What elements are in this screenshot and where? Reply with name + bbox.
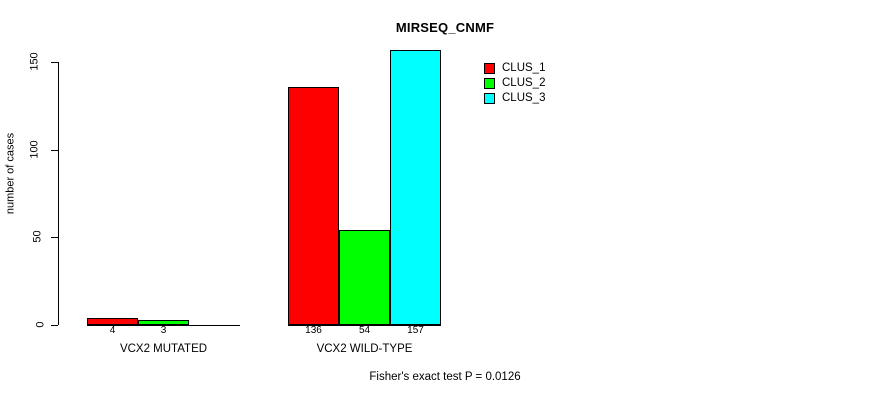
- bar-value-label: 3: [138, 326, 189, 336]
- bar-value-label: 54: [339, 326, 390, 336]
- legend-color-swatch: [484, 93, 495, 104]
- y-axis-tick-label: 150: [0, 56, 44, 67]
- statistical-test-annotation: Fisher's exact test P = 0.0126: [0, 371, 890, 384]
- y-axis-title: number of cases: [6, 119, 17, 229]
- y-axis-tick-mark: [51, 62, 58, 63]
- bar-value-label: 157: [390, 326, 441, 336]
- y-axis-tick-label: 0: [0, 319, 44, 330]
- legend-item-label: CLUS_2: [502, 77, 545, 89]
- legend-color-swatch: [484, 63, 495, 74]
- y-axis-tick-label-text: 100: [29, 140, 40, 158]
- y-axis-tick-label-text: 0: [35, 321, 46, 327]
- legend-item-label: CLUS_3: [502, 92, 545, 104]
- y-axis-tick-label-text: 150: [29, 52, 40, 70]
- chart-title: MIRSEQ_CNMF: [0, 20, 890, 35]
- y-axis-line: [58, 62, 59, 325]
- bar-value-label: 136: [288, 326, 339, 336]
- y-axis-tick-mark: [51, 150, 58, 151]
- y-axis-tick-label: 50: [0, 231, 44, 242]
- group-label: VCX2 WILD-TYPE: [288, 343, 441, 355]
- y-axis-tick-mark: [51, 237, 58, 238]
- legend-color-swatch: [484, 78, 495, 89]
- chart-canvas: MIRSEQ_CNMF 050100150 number of cases 43…: [0, 0, 890, 400]
- legend-item-label: CLUS_1: [502, 62, 545, 74]
- group-label: VCX2 MUTATED: [87, 343, 240, 355]
- y-axis-tick-label-text: 50: [32, 231, 43, 243]
- bar[interactable]: [87, 318, 138, 325]
- bar[interactable]: [390, 50, 441, 325]
- y-axis-tick-mark: [51, 325, 58, 326]
- bar[interactable]: [288, 87, 339, 325]
- bar[interactable]: [339, 230, 390, 325]
- bar-value-label: 4: [87, 326, 138, 336]
